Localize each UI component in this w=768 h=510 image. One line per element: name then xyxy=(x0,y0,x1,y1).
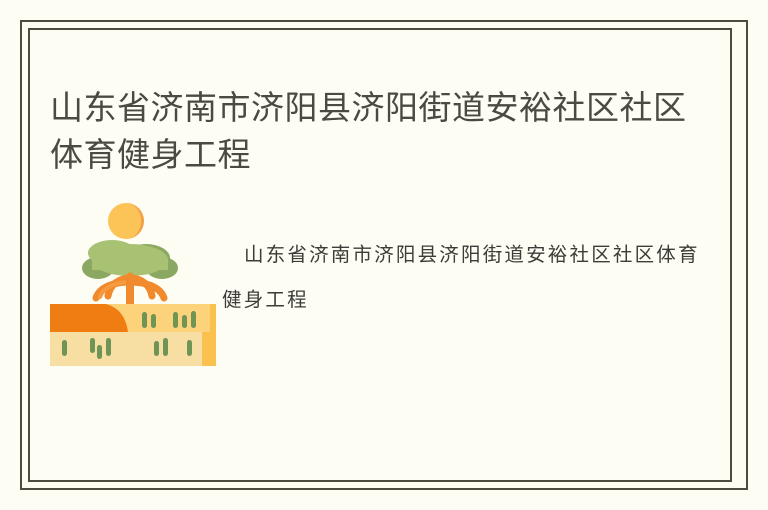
content-row: 山东省济南市济阳县济阳街道安裕社区社区体育健身工程 xyxy=(50,198,710,378)
sun-icon xyxy=(108,203,144,239)
page-title: 山东省济南市济阳县济阳街道安裕社区社区体育健身工程 xyxy=(50,84,690,178)
savanna-landscape-illustration xyxy=(50,198,216,370)
certificate-page: 山东省济南市济阳县济阳街道安裕社区社区体育健身工程 xyxy=(0,0,768,510)
body-paragraph: 山东省济南市济阳县济阳街道安裕社区社区体育健身工程 xyxy=(222,232,702,322)
